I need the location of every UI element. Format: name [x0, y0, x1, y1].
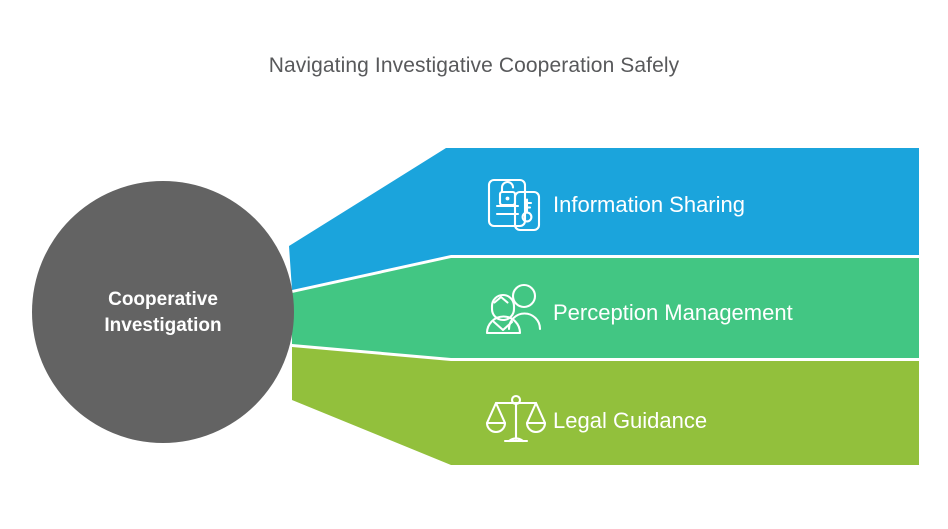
branch-legal-guidance[interactable]: Legal Guidance: [292, 347, 919, 465]
radial-branch-diagram: Information Sharing Perception Managemen…: [0, 0, 948, 529]
hub-label-line2: Investigation: [104, 315, 221, 336]
infographic-canvas: Navigating Investigative Cooperation Saf…: [0, 0, 948, 529]
hub-node[interactable]: Cooperative Investigation: [32, 181, 294, 443]
hub-circle[interactable]: [32, 181, 294, 443]
branch-band-shape-3[interactable]: [292, 347, 919, 465]
branch-label-1: Information Sharing: [553, 192, 745, 217]
hub-label-line1: Cooperative: [108, 289, 218, 310]
branch-label-3: Legal Guidance: [553, 408, 707, 433]
branch-label-2: Perception Management: [553, 300, 793, 325]
branch-perception-management[interactable]: Perception Management: [292, 258, 919, 358]
